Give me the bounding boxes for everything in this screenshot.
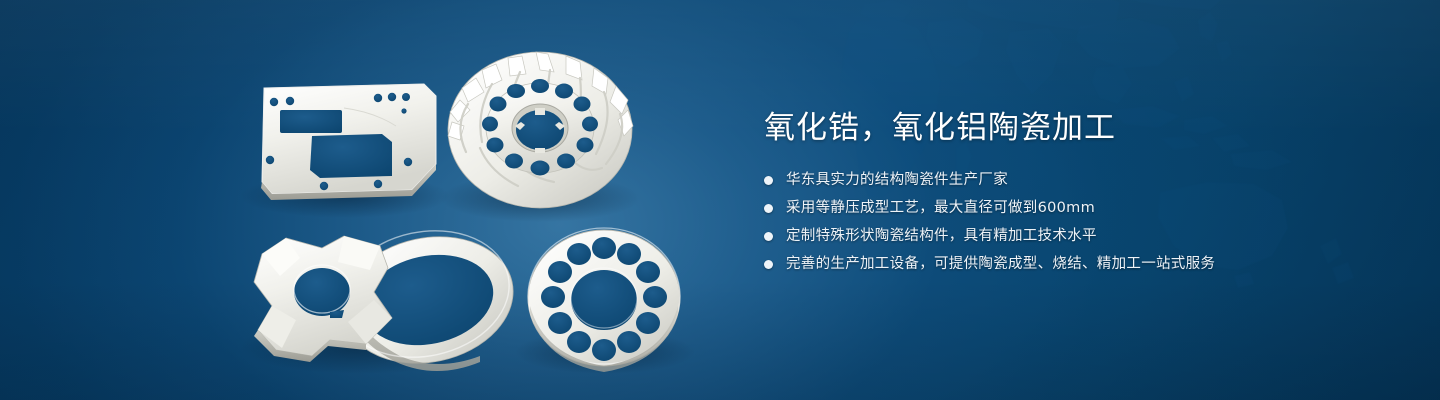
feature-text: 采用等静压成型工艺，最大直径可做到600mm <box>786 198 1095 219</box>
feature-text: 完善的生产加工设备，可提供陶瓷成型、烧结、精加工一站式服务 <box>786 254 1215 275</box>
page-title: 氧化锆，氧化铝陶瓷加工 <box>764 108 1384 148</box>
bullet-dot-icon <box>764 260 773 269</box>
bullet-dot-icon <box>764 232 773 241</box>
bullet-dot-icon <box>764 176 773 185</box>
feature-text: 定制特殊形状陶瓷结构件，具有精加工技术水平 <box>786 226 1097 247</box>
feature-list: 华东具实力的结构陶瓷件生产厂家 采用等静压成型工艺，最大直径可做到600mm 定… <box>764 170 1384 275</box>
list-item: 华东具实力的结构陶瓷件生产厂家 <box>764 170 1384 191</box>
list-item: 采用等静压成型工艺，最大直径可做到600mm <box>764 198 1384 219</box>
list-item: 定制特殊形状陶瓷结构件，具有精加工技术水平 <box>764 226 1384 247</box>
feature-text: 华东具实力的结构陶瓷件生产厂家 <box>786 170 1008 191</box>
list-item: 完善的生产加工设备，可提供陶瓷成型、烧结、精加工一站式服务 <box>764 254 1384 275</box>
ceramic-impeller-disc <box>448 52 633 208</box>
hero-banner: 氧化锆，氧化铝陶瓷加工 华东具实力的结构陶瓷件生产厂家 采用等静压成型工艺，最大… <box>0 0 1440 400</box>
bullet-dot-icon <box>764 204 773 213</box>
ceramic-machined-plate <box>261 84 436 200</box>
banner-copy: 氧化锆，氧化铝陶瓷加工 华东具实力的结构陶瓷件生产厂家 采用等静压成型工艺，最大… <box>764 108 1384 275</box>
ceramic-products-image <box>0 0 740 400</box>
